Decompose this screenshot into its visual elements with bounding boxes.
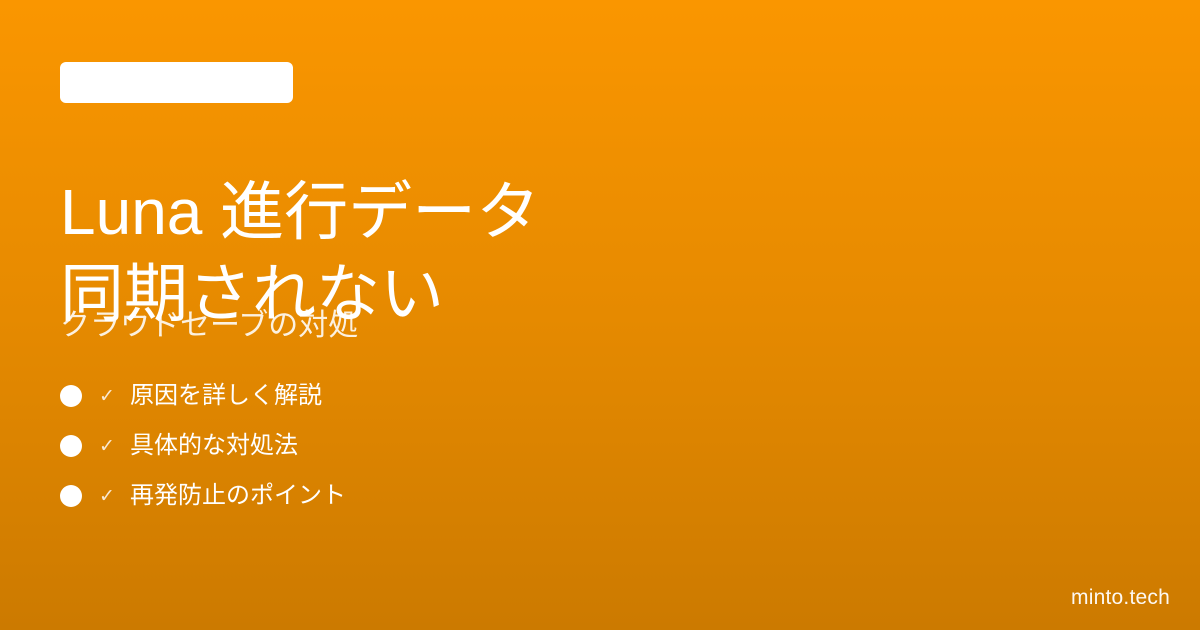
list-item-label: 具体的な対処法 [130,429,298,463]
check-icon: ✓ [96,487,118,506]
list-item-label: 再発防止のポイント [130,479,346,513]
bullet-dot-icon [60,485,82,507]
promo-card: Luna 進行データ 同期されない クラウドセーブの対処 ✓ 原因を詳しく解説 … [0,0,1200,630]
list-item-label: 原因を詳しく解説 [130,379,322,413]
highlight-list: ✓ 原因を詳しく解説 ✓ 具体的な対処法 ✓ 再発防止のポイント [60,378,346,528]
check-icon: ✓ [96,387,118,406]
site-watermark: minto.tech [1071,586,1170,610]
category-badge [60,62,293,103]
check-icon: ✓ [96,437,118,456]
page-title-line-1: Luna 進行データ [60,171,1120,253]
bullet-dot-icon [60,385,82,407]
list-item: ✓ 具体的な対処法 [60,428,346,464]
page-subtitle: クラウドセーブの対処 [60,305,358,347]
bullet-dot-icon [60,435,82,457]
list-item: ✓ 再発防止のポイント [60,478,346,514]
list-item: ✓ 原因を詳しく解説 [60,378,346,414]
